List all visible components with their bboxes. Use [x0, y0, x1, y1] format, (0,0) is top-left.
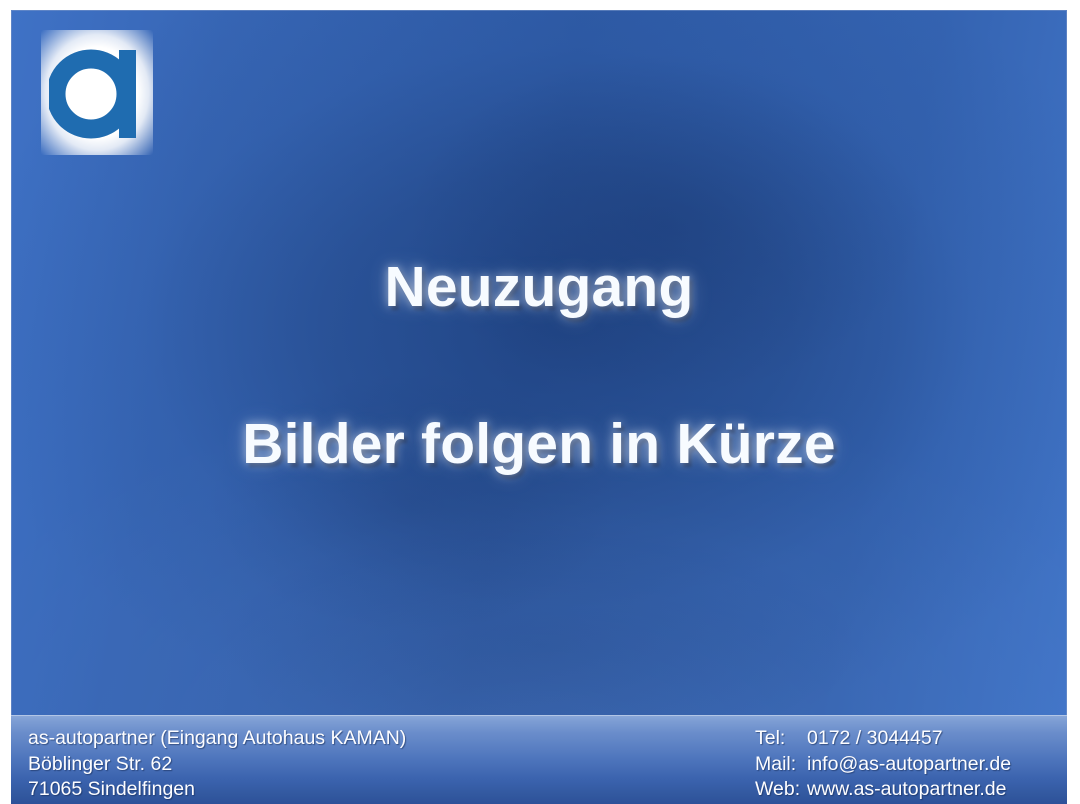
- contact-row-web: Web: www.as-autopartner.de: [755, 777, 1011, 803]
- footer-band: as-autopartner (Eingang Autohaus KAMAN) …: [11, 715, 1067, 804]
- page-subtitle: Bilder folgen in Kürze: [11, 415, 1067, 475]
- footer-contact-block: Tel: 0172 / 3044457 Mail: info@as-autopa…: [755, 726, 1011, 803]
- logo-a-icon: [49, 42, 145, 142]
- tel-label: Tel:: [755, 726, 807, 752]
- mail-label: Mail:: [755, 752, 807, 778]
- image-frame: Neuzugang Bilder folgen in Kürze as-auto…: [0, 0, 1080, 804]
- web-label: Web:: [755, 777, 807, 803]
- address-line-company: as-autopartner (Eingang Autohaus KAMAN): [28, 726, 406, 752]
- tel-value: 0172 / 3044457: [807, 726, 943, 752]
- placeholder-slide: Neuzugang Bilder folgen in Kürze as-auto…: [11, 10, 1067, 804]
- contact-row-tel: Tel: 0172 / 3044457: [755, 726, 1011, 752]
- mail-value[interactable]: info@as-autopartner.de: [807, 752, 1011, 778]
- contact-row-mail: Mail: info@as-autopartner.de: [755, 752, 1011, 778]
- as-autopartner-logo: [41, 30, 153, 155]
- headline-block: Neuzugang Bilder folgen in Kürze: [11, 258, 1067, 475]
- footer-address-block: as-autopartner (Eingang Autohaus KAMAN) …: [28, 726, 406, 803]
- address-line-street: Böblinger Str. 62: [28, 752, 406, 778]
- web-value[interactable]: www.as-autopartner.de: [807, 777, 1006, 803]
- address-line-city: 71065 Sindelfingen: [28, 777, 406, 803]
- page-title: Neuzugang: [11, 258, 1067, 318]
